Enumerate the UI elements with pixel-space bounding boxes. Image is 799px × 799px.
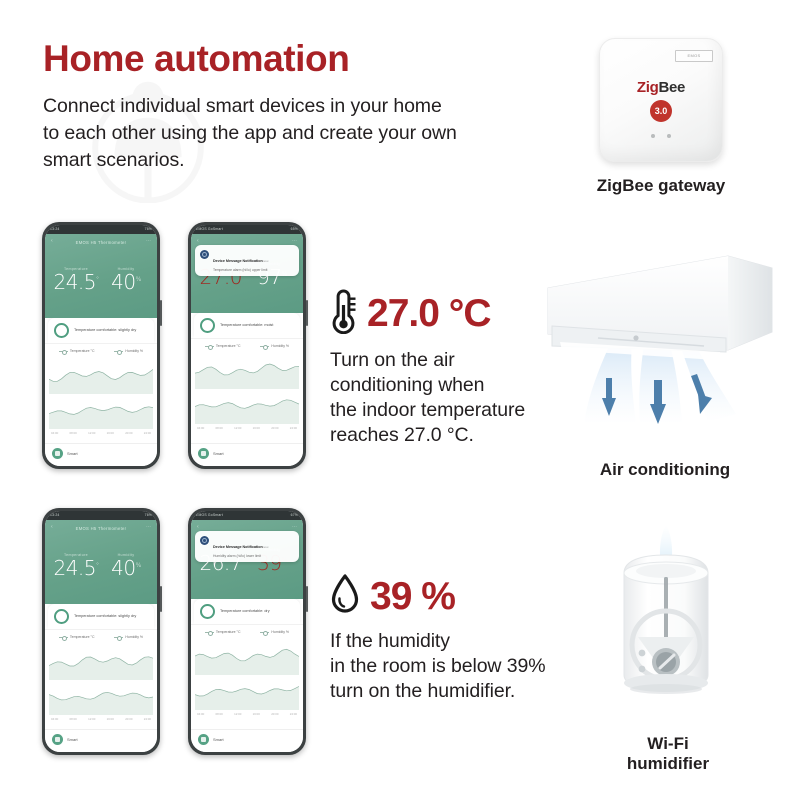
phone-mockup-humidity-normal: 13:2476%‹⋯EMOS H5 ThermometerTemperature… <box>42 508 160 755</box>
water-drop-icon <box>330 573 360 620</box>
legend-swatch-icon <box>260 631 269 634</box>
app-title <box>191 524 303 526</box>
readings-row: Temperature24.5°Humidity40% <box>45 531 157 604</box>
reading-label: Humidity <box>103 267 149 271</box>
callout-temp-line-1: Turn on the air <box>330 348 560 373</box>
status-bar: EMOS GoSmart67% <box>191 511 303 520</box>
temperature-chart[interactable] <box>49 646 153 680</box>
temperature-chart[interactable] <box>195 641 299 675</box>
callout-hum-line-2: in the room is below 39% <box>330 654 560 679</box>
phone-mockup-temp-alarm: EMOS GoSmart65%‹⋯Device Message Notifica… <box>188 222 306 469</box>
zigbee-logo-bee: Bee <box>658 79 685 96</box>
humidifier-caption: Wi-Fi humidifier <box>578 734 758 774</box>
legend-swatch-icon <box>205 631 214 634</box>
comfort-status-icon <box>54 323 69 338</box>
notification-title: Device Message Notification <box>213 259 263 263</box>
smart-icon <box>52 734 63 745</box>
status-bar-right: 76% <box>145 225 152 234</box>
history-charts: 04:0008:0012:0016:0020:0024:00 <box>191 639 303 729</box>
chart-legend: Temperature °CHumidity % <box>45 629 157 644</box>
chart-x-tick: 12:00 <box>88 717 95 721</box>
legend-swatch-icon <box>114 350 123 353</box>
app-hero-panel: ‹⋯Device Message NotificationnowHumidity… <box>191 520 303 599</box>
callout-hum-line-3: turn on the humidifier. <box>330 679 560 704</box>
humidity-chart[interactable] <box>195 676 299 710</box>
chart-legend-item: Temperature °C <box>205 630 241 634</box>
app-notification-icon <box>200 250 209 259</box>
chart-legend: Temperature °CHumidity % <box>191 624 303 639</box>
chart-x-tick: 04:00 <box>197 426 204 430</box>
comfort-status-icon <box>200 604 215 619</box>
smart-icon <box>52 448 63 459</box>
comfort-status-icon <box>54 609 69 624</box>
chart-x-tick: 08:00 <box>216 712 223 716</box>
chart-x-tick: 16:00 <box>107 431 114 435</box>
chart-x-tick: 12:00 <box>234 426 241 430</box>
chart-legend: Temperature °CHumidity % <box>45 343 157 358</box>
status-bar-left: 13:24 <box>50 225 60 234</box>
reading-temperature: Temperature24.5° <box>53 553 99 578</box>
smart-label: Smart <box>67 451 78 456</box>
smart-icon <box>198 734 209 745</box>
phone-screen: 13:2476%‹⋯EMOS H5 ThermometerTemperature… <box>45 511 157 752</box>
chart-x-tick: 16:00 <box>107 717 114 721</box>
headline-block: Home automation Connect individual smart… <box>43 40 463 174</box>
legend-swatch-icon <box>59 350 68 353</box>
chart-x-tick: 12:00 <box>88 431 95 435</box>
app-hero-panel: ‹⋯EMOS H5 ThermometerTemperature24.5°Hum… <box>45 234 157 318</box>
notification-body: Humidity alarm (hi/lo) lower limit <box>213 554 294 558</box>
chart-x-axis: 04:0008:0012:0016:0020:0024:00 <box>195 711 299 716</box>
humidifier-illustration <box>578 525 758 715</box>
chart-x-tick: 20:00 <box>125 431 132 435</box>
comfort-status-card[interactable]: Temperature comfortable: slightly dry <box>48 318 154 343</box>
notification-body: Temperature alarm (hi/lo) upper limit <box>213 268 294 272</box>
reading-humidity: Humidity40% <box>103 267 149 292</box>
legend-swatch-icon <box>260 345 269 348</box>
reading-unit: % <box>136 276 141 283</box>
notification-banner[interactable]: Device Message NotificationnowTemperatur… <box>195 245 299 276</box>
status-bar: EMOS GoSmart65% <box>191 225 303 234</box>
chart-legend-item: Humidity % <box>114 635 143 639</box>
chart-x-tick: 04:00 <box>51 431 58 435</box>
chart-x-tick: 16:00 <box>253 426 260 430</box>
reading-value: 24.5° <box>53 558 99 578</box>
chart-x-axis: 04:0008:0012:0016:0020:0024:00 <box>49 430 153 435</box>
comfort-status-text: Temperature comfortable: slightly dry <box>74 328 136 333</box>
status-bar-right: 76% <box>145 511 152 520</box>
chart-legend-item: Humidity % <box>260 630 289 634</box>
chart-x-tick: 04:00 <box>197 712 204 716</box>
phone-screen: EMOS GoSmart67%‹⋯Device Message Notifica… <box>191 511 303 752</box>
chart-x-tick: 20:00 <box>271 712 278 716</box>
chart-x-tick: 24:00 <box>144 717 151 721</box>
comfort-status-card[interactable]: Temperature comfortable: moist <box>194 313 300 338</box>
comfort-status-text: Temperature comfortable: moist <box>220 323 273 328</box>
page-title: Home automation <box>43 40 463 79</box>
callout-temperature-description: Turn on the air conditioning when the in… <box>330 348 560 448</box>
humidity-chart[interactable] <box>49 395 153 429</box>
app-hero-panel: ‹⋯Device Message NotificationnowTemperat… <box>191 234 303 313</box>
phone-mockup-temp-normal: 13:2476%‹⋯EMOS H5 ThermometerTemperature… <box>42 222 160 469</box>
notification-banner[interactable]: Device Message NotificationnowHumidity a… <box>195 531 299 562</box>
reading-value: 40% <box>103 558 149 578</box>
page-subtitle: Connect individual smart devices in your… <box>43 93 463 174</box>
smart-bar[interactable]: Smart <box>191 443 303 466</box>
reading-value: 40% <box>103 272 149 292</box>
zigbee-gateway-figure: EMOS ZigBee 3.0 ZigBee gateway <box>586 38 736 196</box>
legend-swatch-icon <box>205 345 214 348</box>
gateway-brand-chip: EMOS <box>675 50 713 62</box>
reading-unit: ° <box>96 276 99 283</box>
readings-row: Temperature24.5°Humidity40% <box>45 245 157 318</box>
status-bar: 13:2476% <box>45 511 157 520</box>
gateway-led-indicators <box>600 125 722 143</box>
zigbee-logo-zig: Zig <box>637 79 659 96</box>
chart-legend: Temperature °CHumidity % <box>191 338 303 353</box>
thermometer-icon <box>330 288 357 339</box>
chart-x-tick: 24:00 <box>290 712 297 716</box>
temperature-chart[interactable] <box>195 355 299 389</box>
smart-bar[interactable]: Smart <box>191 729 303 752</box>
reading-label: Temperature <box>53 553 99 557</box>
comfort-status-text: Temperature comfortable: slightly dry <box>74 614 136 619</box>
chart-x-tick: 12:00 <box>234 712 241 716</box>
notification-time: now <box>263 259 269 263</box>
gateway-caption: ZigBee gateway <box>586 176 736 196</box>
reading-value: 24.5° <box>53 272 99 292</box>
reading-label: Humidity <box>103 553 149 557</box>
chart-x-tick: 24:00 <box>144 431 151 435</box>
history-charts: 04:0008:0012:0016:0020:0024:00 <box>191 353 303 443</box>
status-bar-right: 67% <box>291 511 298 520</box>
reading-unit: ° <box>96 562 99 569</box>
status-bar-left: EMOS GoSmart <box>196 511 223 520</box>
humidity-chart[interactable] <box>195 390 299 424</box>
callout-hum-line-1: If the humidity <box>330 629 560 654</box>
chart-x-tick: 24:00 <box>290 426 297 430</box>
zigbee-version-badge: 3.0 <box>650 100 672 122</box>
gateway-device-body: EMOS ZigBee 3.0 <box>599 38 723 162</box>
chart-legend-item: Temperature °C <box>205 344 241 348</box>
air-conditioner-illustration <box>540 246 790 441</box>
callout-temperature: 27.0 °C Turn on the air conditioning whe… <box>330 288 560 448</box>
callout-humidity-value: 39 % <box>370 577 455 616</box>
chart-x-tick: 08:00 <box>70 431 77 435</box>
callout-humidity-description: If the humidity in the room is below 39%… <box>330 629 560 704</box>
smart-label: Smart <box>213 451 224 456</box>
chart-legend-item: Temperature °C <box>59 349 95 353</box>
app-notification-icon <box>200 536 209 545</box>
comfort-status-text: Temperature comfortable: dry <box>220 609 270 614</box>
chart-x-tick: 20:00 <box>125 717 132 721</box>
chart-x-tick: 08:00 <box>216 426 223 430</box>
comfort-status-card[interactable]: Temperature comfortable: dry <box>194 599 300 624</box>
chart-x-axis: 04:0008:0012:0016:0020:0024:00 <box>49 716 153 721</box>
app-title: EMOS H5 Thermometer <box>45 524 157 531</box>
status-bar-right: 65% <box>291 225 298 234</box>
humidifier-caption-line-2: humidifier <box>578 754 758 774</box>
zigbee-logo: ZigBee 3.0 <box>600 79 722 122</box>
air-conditioning-caption: Air conditioning <box>540 460 790 480</box>
smart-label: Smart <box>67 737 78 742</box>
chart-legend-item: Temperature °C <box>59 635 95 639</box>
chart-x-axis: 04:0008:0012:0016:0020:0024:00 <box>195 425 299 430</box>
reading-temperature: Temperature24.5° <box>53 267 99 292</box>
chart-x-tick: 16:00 <box>253 712 260 716</box>
callout-humidity: 39 % If the humidity in the room is belo… <box>330 573 560 704</box>
smart-bar[interactable]: Smart <box>45 729 157 752</box>
comfort-status-icon <box>200 318 215 333</box>
notification-title: Device Message Notification <box>213 545 263 549</box>
history-charts: 04:0008:0012:0016:0020:0024:00 <box>45 644 157 729</box>
phone-screen: 13:2476%‹⋯EMOS H5 ThermometerTemperature… <box>45 225 157 466</box>
reading-humidity: Humidity40% <box>103 553 149 578</box>
callout-temp-line-2: conditioning when <box>330 373 560 398</box>
status-bar-left: 13:24 <box>50 511 60 520</box>
history-charts: 04:0008:0012:0016:0020:0024:00 <box>45 358 157 443</box>
reading-unit: % <box>136 562 141 569</box>
callout-temp-line-3: the indoor temperature <box>330 398 560 423</box>
phone-screen: EMOS GoSmart65%‹⋯Device Message Notifica… <box>191 225 303 466</box>
app-title <box>191 238 303 240</box>
temperature-chart[interactable] <box>49 360 153 394</box>
legend-swatch-icon <box>114 636 123 639</box>
chart-x-tick: 20:00 <box>271 426 278 430</box>
smart-bar[interactable]: Smart <box>45 443 157 466</box>
humidity-chart[interactable] <box>49 681 153 715</box>
app-title: EMOS H5 Thermometer <box>45 238 157 245</box>
app-hero-panel: ‹⋯EMOS H5 ThermometerTemperature24.5°Hum… <box>45 520 157 604</box>
air-conditioning-figure: Air conditioning <box>540 246 790 480</box>
reading-label: Temperature <box>53 267 99 271</box>
smart-icon <box>198 448 209 459</box>
legend-swatch-icon <box>59 636 68 639</box>
chart-x-tick: 08:00 <box>70 717 77 721</box>
status-bar: 13:2476% <box>45 225 157 234</box>
callout-temperature-value: 27.0 °C <box>367 294 491 333</box>
humidifier-figure: Wi-Fi humidifier <box>578 525 758 774</box>
notification-time: now <box>263 545 269 549</box>
chart-legend-item: Humidity % <box>260 344 289 348</box>
status-bar-left: EMOS GoSmart <box>196 225 223 234</box>
chart-x-tick: 04:00 <box>51 717 58 721</box>
chart-legend-item: Humidity % <box>114 349 143 353</box>
comfort-status-card[interactable]: Temperature comfortable: slightly dry <box>48 604 154 629</box>
callout-temp-line-4: reaches 27.0 °C. <box>330 423 560 448</box>
smart-label: Smart <box>213 737 224 742</box>
phone-mockup-humidity-alarm: EMOS GoSmart67%‹⋯Device Message Notifica… <box>188 508 306 755</box>
humidifier-caption-line-1: Wi-Fi <box>578 734 758 754</box>
